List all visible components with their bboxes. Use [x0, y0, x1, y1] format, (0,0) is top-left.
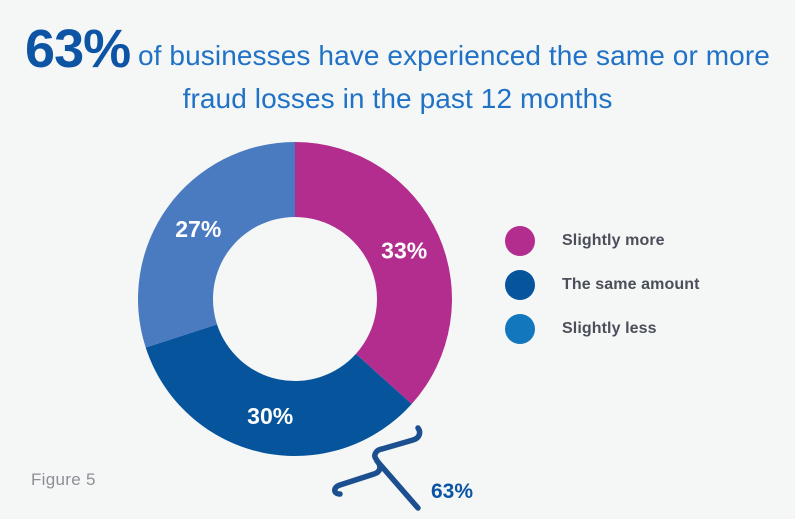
donut-slice[interactable] [138, 142, 295, 348]
donut-slice-group [138, 142, 452, 456]
donut-slice-label: 27% [175, 216, 221, 242]
legend-color-swatch-icon [505, 314, 535, 344]
bracket-callout-value: 63% [431, 480, 473, 503]
legend-item[interactable]: The same amount [505, 266, 780, 304]
donut-slice-label: 33% [381, 237, 427, 263]
legend-item-label: Slightly more [562, 232, 665, 250]
legend-item[interactable]: Slightly less [505, 310, 780, 348]
figure-caption: Figure 5 [31, 470, 96, 490]
donut-slice-label: 30% [247, 403, 293, 429]
legend-color-swatch-icon [505, 270, 535, 300]
legend-item-label: Slightly less [562, 320, 657, 338]
donut-slice[interactable] [295, 142, 452, 404]
legend-color-swatch-icon [505, 226, 535, 256]
legend-item-label: The same amount [562, 276, 700, 294]
legend-item[interactable]: Slightly more [505, 222, 780, 260]
chart-legend: Slightly moreThe same amountSlightly les… [505, 222, 780, 354]
bracket-callout-stem [377, 461, 418, 508]
